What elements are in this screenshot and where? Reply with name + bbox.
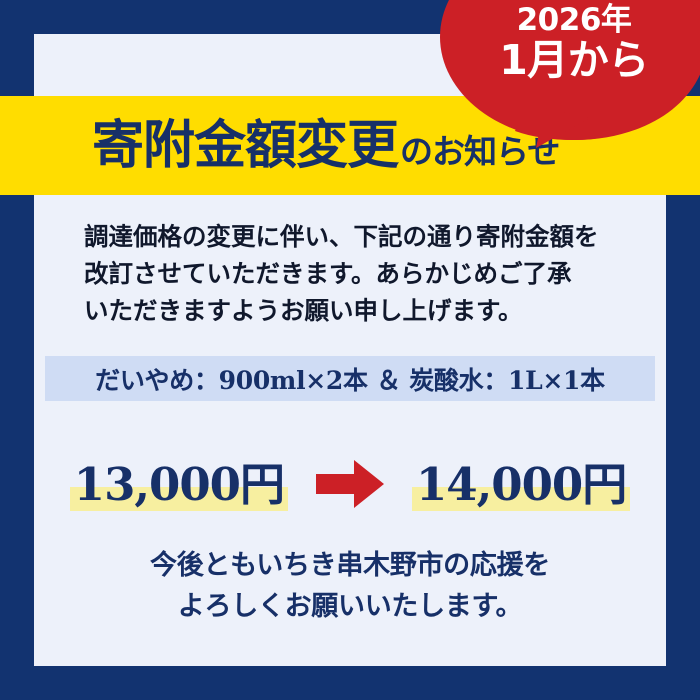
price-change-row: 13,000円 14,000円 [34, 452, 666, 516]
date-badge: 2026年 1月から [440, 0, 700, 152]
speech-bubble-icon [440, 0, 700, 152]
page-title: 寄附金額変更 [92, 120, 398, 172]
product-band: だいやめ：900ml×2本 ＆ 炭酸水：1L×1本 [45, 356, 655, 401]
body-line-1: 調達価格の変更に伴い、下記の通り寄附金額を [84, 218, 624, 255]
new-price-value: 14,000円 [416, 458, 626, 511]
old-price-value: 13,000円 [74, 458, 284, 511]
body-paragraph: 調達価格の変更に伴い、下記の通り寄附金額を 改訂させていただきます。あらかじめご… [84, 218, 624, 330]
product-label: だいやめ：900ml×2本 ＆ 炭酸水：1L×1本 [95, 361, 605, 397]
new-price: 14,000円 [412, 462, 630, 507]
announcement-poster: 寄附金額変更 のお知らせ 2026年 1月から 調達価格の変更に伴い、下記の通り… [0, 0, 700, 700]
closing-message: 今後ともいちき串木野市の応援を よろしくお願いいたします。 [34, 546, 666, 627]
old-price: 13,000円 [70, 462, 288, 507]
right-arrow-icon [314, 458, 386, 510]
body-line-2: 改訂させていただきます。あらかじめご了承 [84, 255, 624, 292]
closing-line-2: よろしくお願いいたします。 [34, 587, 666, 628]
body-line-3: いただきますようお願い申し上げます。 [84, 292, 624, 329]
closing-line-1: 今後ともいちき串木野市の応援を [34, 546, 666, 587]
